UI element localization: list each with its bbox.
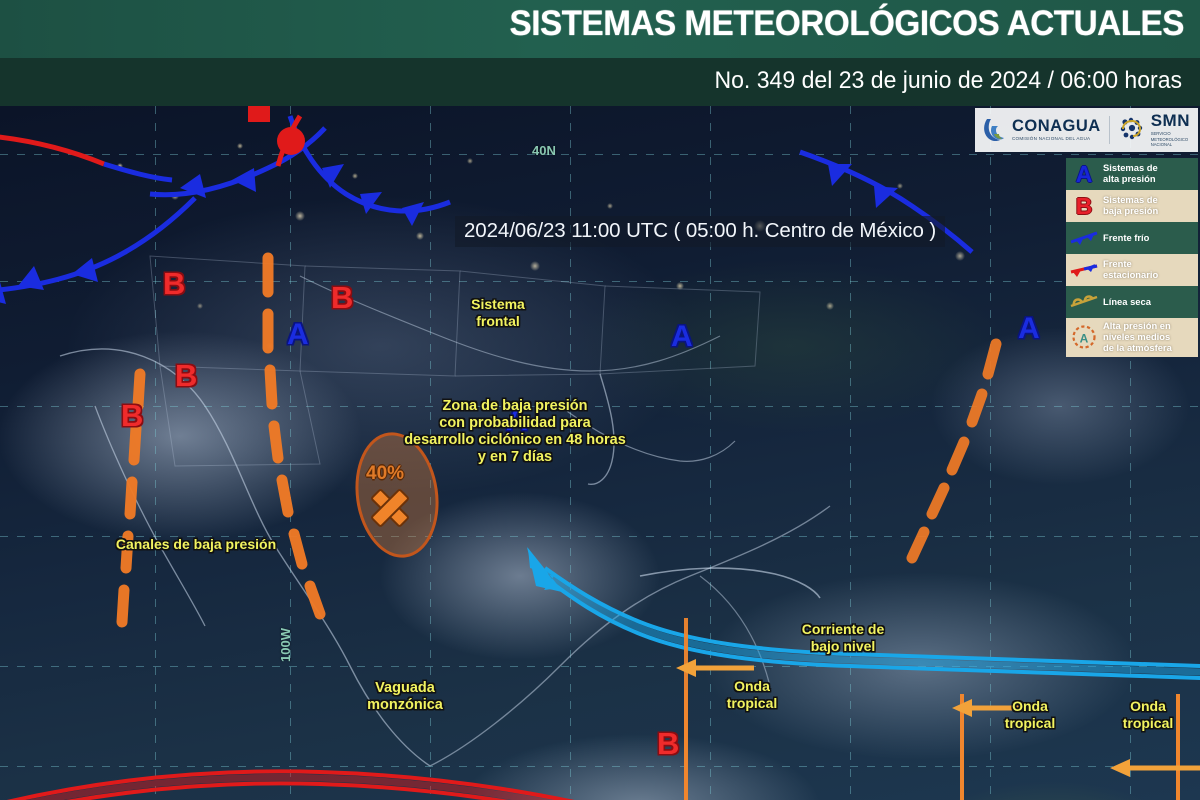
svg-text:A: A — [1080, 332, 1089, 346]
annotation-zona-baja-presion: Zona de baja presión con probabilidad pa… — [350, 398, 680, 466]
graticule-lat-line — [0, 281, 1200, 282]
stationary-front-icon — [1070, 257, 1098, 283]
grid-label-40n: 40N — [532, 143, 556, 158]
weather-bulletin-page: SISTEMAS METEOROLÓGICOS ACTUALES No. 349… — [0, 0, 1200, 800]
map-landmass-layer — [0, 106, 1200, 800]
legend-item-high-pressure: A Sistemas de alta presión — [1066, 158, 1198, 190]
high-pressure-A-icon: A — [1070, 161, 1098, 187]
mid-level-high-icon: A — [1070, 324, 1098, 350]
legend-symbol-A: A — [1076, 161, 1093, 188]
conagua-tagline: COMISIÓN NACIONAL DEL AGUA — [1012, 137, 1101, 142]
annotation-vaguada-monzonica: Vaguada monzónica — [340, 680, 470, 714]
header-title-bar: SISTEMAS METEOROLÓGICOS ACTUALES — [0, 0, 1200, 58]
legend-item-stationary-front: Frente estacionario — [1066, 254, 1198, 286]
dry-line-icon — [1070, 289, 1098, 315]
legend-label-cold-front: Frente frío — [1103, 233, 1149, 244]
low-pressure-marker: B — [657, 726, 679, 762]
cold-front-icon — [1070, 225, 1098, 251]
low-pressure-marker: B — [121, 398, 143, 434]
legend-item-dry-line: Línea seca — [1066, 286, 1198, 318]
graticule-lon-line — [990, 106, 991, 800]
low-pressure-marker: B — [331, 280, 353, 316]
legend-label-stationary-front: Frente estacionario — [1103, 259, 1158, 281]
legend-symbol-B: B — [1076, 193, 1093, 220]
high-pressure-marker: A — [506, 404, 528, 438]
smn-name: SMN — [1151, 112, 1190, 129]
graticule-lon-line — [570, 106, 571, 800]
header-subtitle-bar: No. 349 del 23 de junio de 2024 / 06:00 … — [0, 58, 1200, 106]
logo-divider — [1109, 116, 1110, 144]
legend-item-low-pressure: B Sistemas de baja presión — [1066, 190, 1198, 222]
map-vector-overlay — [0, 106, 1200, 800]
graticule-lon-line — [430, 106, 431, 800]
graticule-lon-120w — [290, 106, 291, 800]
agency-logos: CONAGUA COMISIÓN NACIONAL DEL AGUA SMN S… — [975, 108, 1198, 152]
grid-label-100w: 100W — [278, 628, 293, 662]
graticule-lat-40n — [0, 154, 1200, 155]
graticule-lat-line — [0, 406, 1200, 407]
annotation-sistema-frontal: Sistema frontal — [438, 296, 558, 329]
map-timestamp: 2024/06/23 11:00 UTC ( 05:00 h. Centro d… — [455, 216, 945, 247]
legend-label-low-pressure: Sistemas de baja presión — [1103, 195, 1158, 217]
legend-item-cold-front: Frente frío — [1066, 222, 1198, 254]
high-pressure-marker: A — [287, 318, 309, 352]
conagua-name: CONAGUA — [1012, 118, 1101, 135]
page-title: SISTEMAS METEOROLÓGICOS ACTUALES — [510, 4, 1184, 44]
legend-label-mid-level-high: Alta presión en niveles medios de la atm… — [1103, 321, 1172, 354]
smn-logo: SMN SERVICIO METEOROLÓGICO NACIONAL — [1118, 112, 1190, 148]
canales-baja-presion — [122, 258, 996, 622]
annotation-canales-baja-presion: Canales de baja presión — [86, 536, 306, 553]
legend-label-high-pressure: Sistemas de alta presión — [1103, 163, 1158, 185]
graticule-lat-line — [0, 666, 1200, 667]
vaguada-monzonica — [0, 771, 1200, 800]
onda-tropical-arrows — [676, 618, 1200, 800]
high-pressure-marker: A — [671, 320, 693, 354]
legend-item-mid-level-high: A Alta presión en niveles medios de la a… — [1066, 318, 1198, 357]
map-legend: A Sistemas de alta presión B Sistemas de… — [1066, 158, 1198, 357]
annotation-onda-tropical-3: Onda tropical — [1098, 698, 1198, 731]
annotation-onda-tropical-2: Onda tropical — [980, 698, 1080, 731]
low-pressure-marker: B — [175, 358, 197, 394]
top-marker-layer — [0, 106, 1200, 800]
conagua-wave-icon — [981, 116, 1007, 144]
annotation-corriente-bajo-nivel: Corriente de bajo nivel — [773, 621, 913, 654]
low-pressure-B-icon: B — [1070, 193, 1098, 219]
cyclone-probability-label: 40% — [366, 463, 404, 485]
legend-label-dry-line: Línea seca — [1103, 297, 1151, 308]
smn-tagline: SERVICIO METEOROLÓGICO NACIONAL — [1151, 131, 1190, 148]
x-marker — [371, 489, 408, 526]
smn-spiral-icon — [1118, 116, 1146, 144]
cyclone-x-marker-layer — [0, 106, 1200, 800]
graticule-lon-line — [710, 106, 711, 800]
low-pressure-marker: B — [163, 266, 185, 302]
high-pressure-marker: A — [1018, 312, 1040, 346]
graticule-lat-line — [0, 536, 1200, 537]
bulletin-number-date: No. 349 del 23 de junio de 2024 / 06:00 … — [714, 67, 1182, 95]
graticule-lon-line — [850, 106, 851, 800]
graticule-lon-line — [155, 106, 156, 800]
conagua-logo: CONAGUA COMISIÓN NACIONAL DEL AGUA — [981, 116, 1101, 144]
satellite-map[interactable]: 2024/06/23 11:00 UTC ( 05:00 h. Centro d… — [0, 106, 1200, 800]
cold-front-group — [0, 116, 972, 304]
graticule-lat-line — [0, 766, 1200, 767]
stationary-front-group — [0, 116, 300, 180]
annotation-onda-tropical-1: Onda tropical — [702, 678, 802, 711]
corriente-bajo-nivel — [527, 547, 1200, 678]
cyclonic-development-area[interactable] — [348, 427, 447, 563]
